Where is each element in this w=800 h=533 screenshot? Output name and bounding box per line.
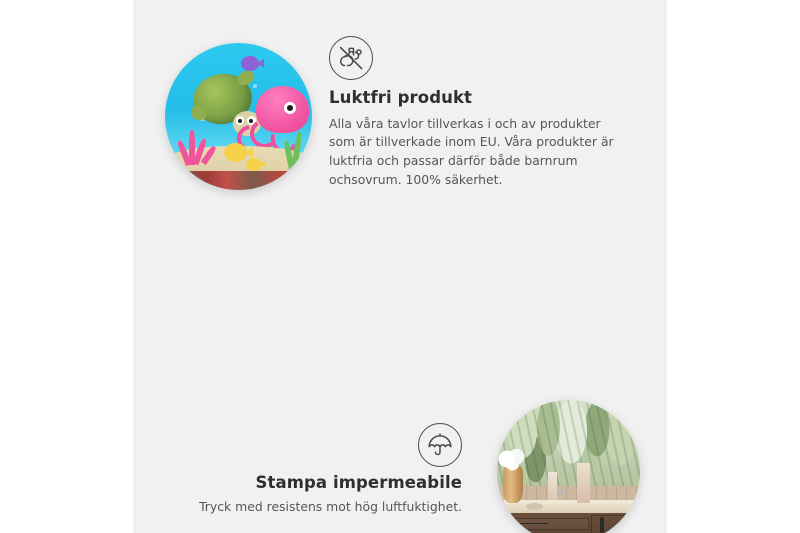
circular-image-frame xyxy=(165,43,312,190)
feature-block-luktfri-produkt: Luktfri produkt Alla våra tavlor tillver… xyxy=(0,0,667,200)
feature-description: Alla våra tavlor tillverkas i och av pro… xyxy=(329,115,619,190)
no-fragrance-icon xyxy=(329,36,373,80)
turtle-eye xyxy=(236,116,244,125)
feature-block-stampa-impermeabile: Stampa impermeabile Tryck med resistens … xyxy=(0,195,667,345)
yellow-fish-icon xyxy=(246,158,262,171)
feature-block-enkel-montering: Enkel montering Färgdig på 60 minuter. xyxy=(0,330,667,530)
octopus-eye xyxy=(284,102,297,114)
feature-text-column: Luktfri produkt Alla våra tavlor tillver… xyxy=(329,36,619,190)
purple-fish-icon xyxy=(241,56,259,71)
coral-icon xyxy=(178,124,216,165)
bubble-icon xyxy=(253,84,257,88)
infographic-page: Luktfri produkt Alla våra tavlor tillver… xyxy=(0,0,800,533)
feature-image-underwater-kids-illustration xyxy=(165,43,312,190)
foreground-strip xyxy=(165,171,312,190)
feature-title: Luktfri produkt xyxy=(329,88,619,109)
underwater-scene xyxy=(165,43,312,190)
